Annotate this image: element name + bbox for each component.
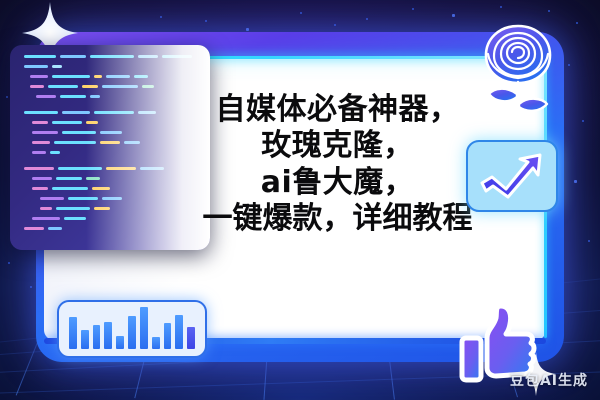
code-line: [60, 55, 86, 58]
code-line: [52, 121, 82, 124]
code-line: [92, 187, 110, 190]
code-line: [62, 131, 96, 134]
star-dot: [500, 6, 502, 8]
star-dot: [300, 12, 302, 14]
title-line-3: ai鲁大魔，: [160, 165, 515, 201]
code-line: [90, 55, 134, 58]
code-line: [100, 131, 122, 134]
code-line: [106, 167, 136, 170]
code-line: [86, 121, 98, 124]
chart-bar: [187, 327, 195, 349]
code-line: [102, 85, 138, 88]
poster-canvas: 自媒体必备神器， 玫瑰克隆， ai鲁大魔， 一键爆款，详细教程: [0, 0, 600, 400]
code-line: [32, 141, 50, 144]
code-line: [54, 141, 96, 144]
star-dot: [548, 10, 550, 12]
code-line: [82, 85, 98, 88]
code-line: [60, 95, 86, 98]
code-line: [40, 207, 52, 210]
code-line: [30, 85, 44, 88]
code-line: [94, 207, 110, 210]
rose-icon: [476, 20, 560, 120]
code-line: [24, 167, 54, 170]
star-dot: [205, 20, 207, 22]
star-dot: [576, 22, 578, 24]
code-line: [24, 55, 56, 58]
code-line: [52, 187, 88, 190]
code-line: [40, 197, 64, 200]
code-line: [94, 75, 102, 78]
code-line: [106, 75, 130, 78]
code-line: [86, 177, 100, 180]
code-line: [56, 177, 82, 180]
chart-bar: [104, 322, 112, 349]
star-dot: [6, 96, 8, 98]
chart-bar: [164, 323, 172, 349]
code-line: [32, 131, 58, 134]
code-line: [32, 177, 52, 180]
chart-bar: [175, 315, 183, 349]
code-line: [36, 95, 56, 98]
code-line: [52, 65, 62, 68]
star-dot: [160, 16, 162, 18]
star-dot: [452, 14, 455, 17]
code-line: [32, 217, 60, 220]
code-line: [24, 65, 48, 68]
chart-bar: [69, 317, 77, 349]
code-line: [102, 197, 122, 200]
chart-bar: [128, 316, 136, 349]
chart-bar: [152, 337, 160, 349]
title-line-2: 玫瑰克隆，: [160, 128, 515, 164]
code-line: [58, 167, 102, 170]
code-line: [124, 141, 140, 144]
code-line: [48, 85, 78, 88]
page-title: 自媒体必备神器， 玫瑰克隆， ai鲁大魔， 一键爆款，详细教程: [160, 92, 515, 237]
code-line: [32, 187, 48, 190]
star-dot: [582, 120, 584, 122]
code-line: [142, 85, 154, 88]
chart-bar: [140, 307, 148, 349]
code-line: [30, 75, 48, 78]
code-line: [134, 75, 148, 78]
star-dot: [568, 64, 570, 66]
code-line: [68, 197, 98, 200]
chart-bar: [116, 336, 124, 349]
code-line: [90, 95, 100, 98]
code-line: [64, 217, 86, 220]
code-line: [100, 141, 120, 144]
code-line: [48, 227, 62, 230]
code-line: [32, 121, 48, 124]
chart-bar: [81, 330, 89, 349]
code-line: [138, 111, 156, 114]
watermark: 豆包AI生成: [510, 370, 588, 390]
star-dot: [334, 24, 336, 26]
code-line: [52, 75, 90, 78]
code-line: [56, 207, 90, 210]
code-line: [32, 151, 46, 154]
star-dot: [8, 262, 10, 264]
code-line: [50, 151, 60, 154]
code-line: [24, 111, 58, 114]
star-dot: [246, 28, 249, 31]
title-line-1: 自媒体必备神器，: [160, 92, 515, 128]
code-line: [24, 227, 44, 230]
code-line: [62, 111, 90, 114]
code-line: [138, 55, 158, 58]
code-line: [162, 55, 192, 58]
trending-up-icon: [476, 149, 548, 203]
trending-up-card: [466, 140, 558, 212]
star-dot: [574, 180, 577, 183]
title-line-4: 一键爆款，详细教程: [160, 201, 515, 237]
star-dot: [412, 8, 414, 10]
star-dot: [366, 18, 368, 20]
code-line: [94, 111, 134, 114]
bar-chart-card: [57, 300, 207, 358]
star-dot: [588, 240, 590, 242]
chart-bar: [93, 325, 101, 349]
